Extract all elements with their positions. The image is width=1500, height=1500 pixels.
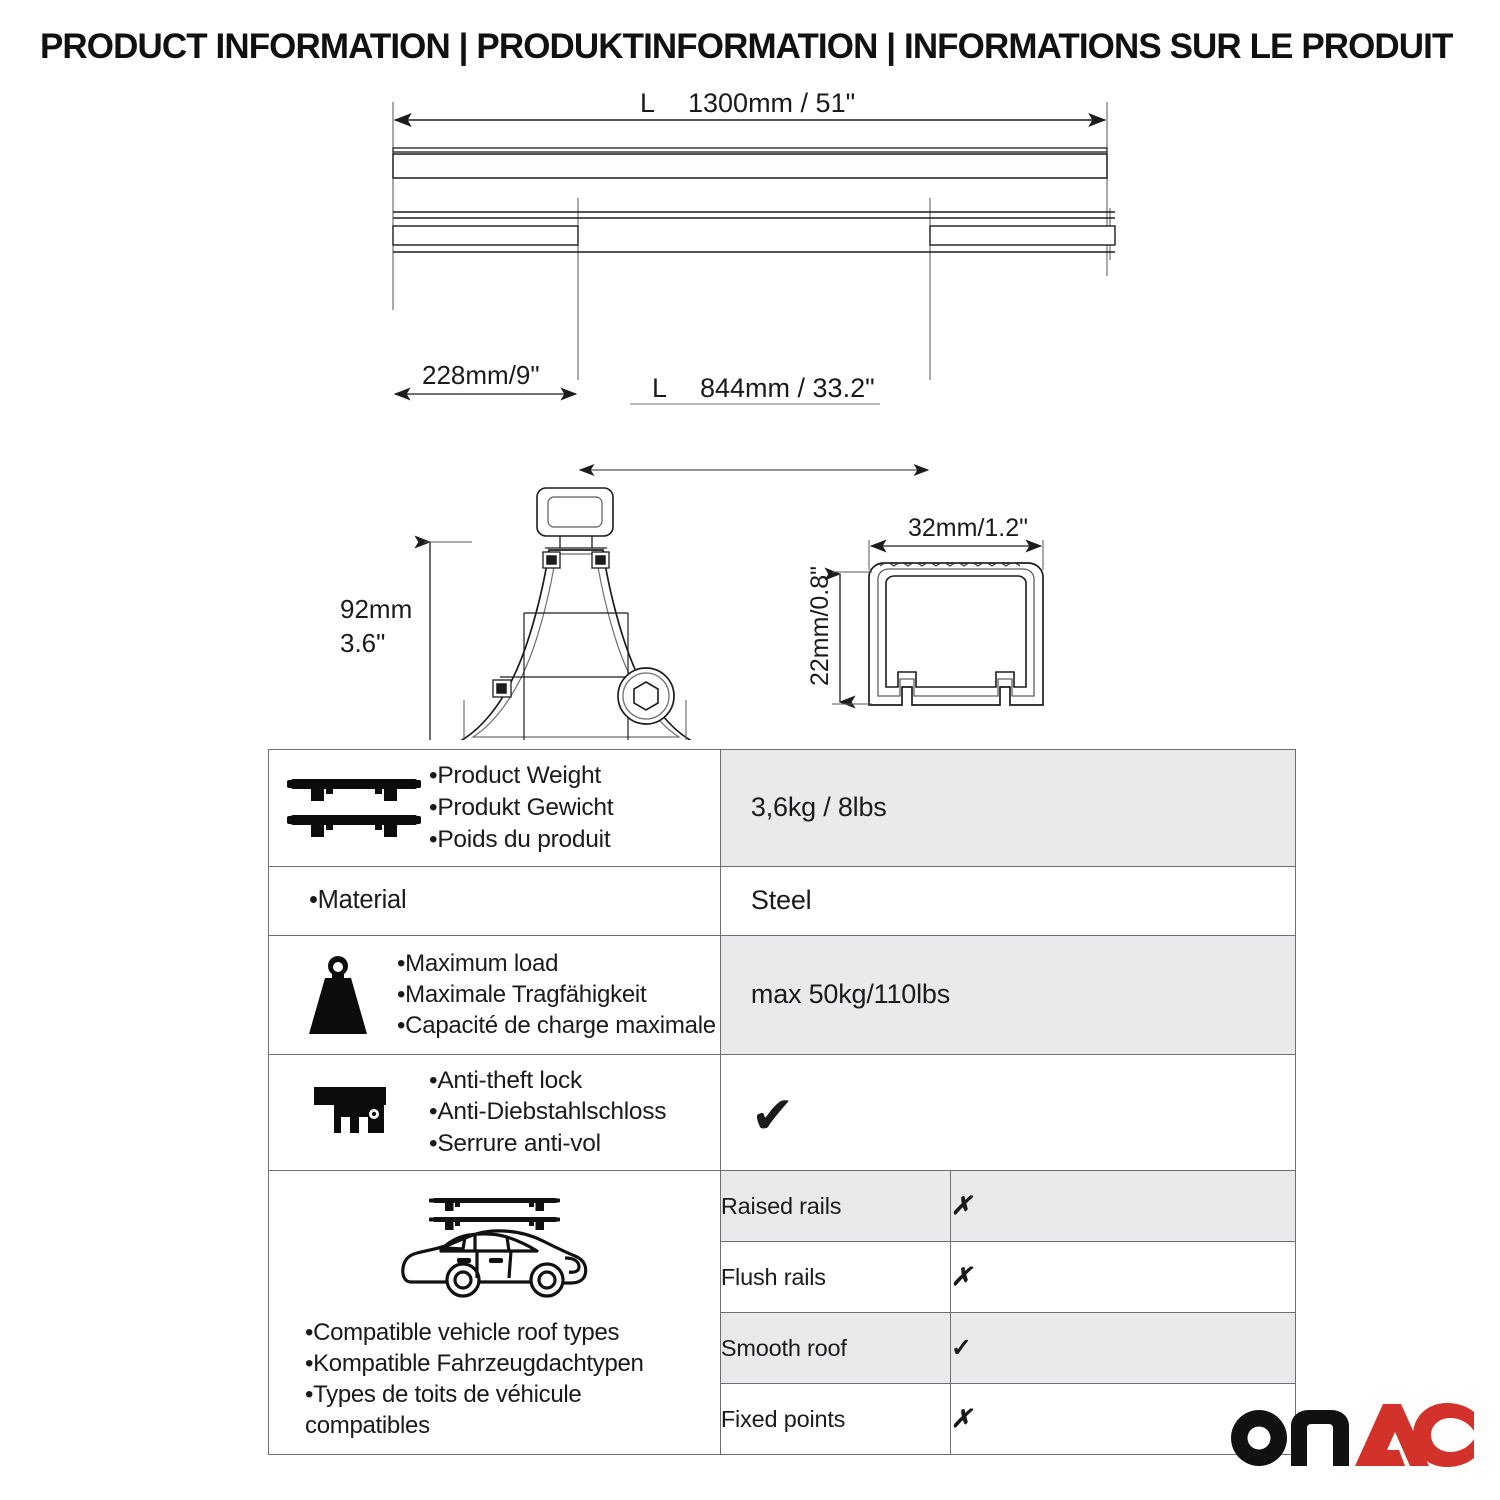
roof-option-mark-flush-rails: ✗ [950, 1242, 1295, 1313]
label-line: •Poids du produit [429, 824, 716, 856]
specifications-table: •Product Weight •Produkt Gewicht •Poids … [268, 749, 1296, 1455]
label-cell-maximum-load: •Maximum load •Maximale Tragfähigkeit •C… [269, 935, 721, 1054]
label-text-maximum-load: •Maximum load •Maximale Tragfähigkeit •C… [397, 948, 716, 1042]
profile-width-dim-value: 32mm/1.2" [908, 514, 1028, 542]
page-title: PRODUCT INFORMATION | PRODUKTINFORMATION… [40, 26, 1449, 67]
logo-letter-o [1231, 1410, 1287, 1466]
product-information-page: PRODUCT INFORMATION | PRODUKTINFORMATION… [0, 0, 1500, 1500]
label-line: •Kompatible Fahrzeugdachtypen [305, 1348, 685, 1379]
label-cell-product-weight: •Product Weight •Produkt Gewicht •Poids … [269, 750, 721, 867]
label-cell-anti-theft-lock: •Anti-theft lock •Anti-Diebstahlschloss … [269, 1054, 721, 1171]
span-dim-letter: L [652, 373, 667, 403]
value-product-weight: 3,6kg / 8lbs [720, 750, 1295, 867]
table-row-anti-theft-lock: •Anti-theft lock •Anti-Diebstahlschloss … [269, 1054, 1296, 1171]
bar-length-dim-letter: L [640, 88, 655, 118]
label-line: •Maximale Tragfähigkeit [397, 979, 716, 1010]
label-line: •Produkt Gewicht [429, 792, 716, 824]
roof-option-name-raised-rails: Raised rails [720, 1171, 950, 1242]
logo-letter-m [1291, 1410, 1349, 1466]
foot-offset-dim-value: 228mm/9" [422, 360, 540, 390]
lock-icon [279, 1081, 429, 1143]
bar-length-dim-value: 1300mm / 51" [688, 88, 855, 118]
label-line: •Types de toits de véhicule compatibles [305, 1379, 685, 1441]
label-line: •Maximum load [397, 948, 716, 979]
label-line: •Compatible vehicle roof types [305, 1317, 685, 1348]
roof-option-name-smooth-roof: Smooth roof [720, 1313, 950, 1384]
label-cell-material: •Material [269, 866, 721, 935]
table-row-roof-raised-rails: •Compatible vehicle roof types •Kompatib… [269, 1171, 1296, 1242]
label-text-product-weight: •Product Weight •Produkt Gewicht •Poids … [429, 760, 716, 856]
value-material: Steel [720, 866, 1295, 935]
label-line: •Product Weight [429, 760, 716, 792]
label-text-compatible-roof-types: •Compatible vehicle roof types •Kompatib… [305, 1317, 685, 1442]
label-cell-compatible-roof-types: •Compatible vehicle roof types •Kompatib… [269, 1171, 721, 1455]
profile-height-dim-value: 22mm/0.8" [806, 566, 834, 686]
label-text-material: •Material [309, 884, 716, 917]
label-text-anti-theft-lock: •Anti-theft lock •Anti-Diebstahlschloss … [429, 1065, 716, 1161]
roof-option-mark-raised-rails: ✗ [950, 1171, 1295, 1242]
label-line: •Anti-Diebstahlschloss [429, 1096, 716, 1128]
label-line: •Material [309, 884, 716, 917]
dimension-drawings-svg: L 1300mm / 51" 228mm/9" L 844mm / 33.2" … [0, 80, 1500, 740]
label-line: •Anti-theft lock [429, 1065, 716, 1097]
logo-letter-c [1413, 1403, 1474, 1467]
car-with-rack-icon [389, 1188, 599, 1311]
technical-drawing-area: L 1300mm / 51" 228mm/9" L 844mm / 33.2" … [0, 80, 1500, 740]
roof-option-name-flush-rails: Flush rails [720, 1242, 950, 1313]
roof-option-name-fixed-points: Fixed points [720, 1384, 950, 1455]
table-row-material: •Material Steel [269, 866, 1296, 935]
weight-icon [279, 952, 397, 1038]
value-anti-theft-lock: ✔ [720, 1054, 1295, 1171]
roof-option-mark-smooth-roof: ✓ [950, 1313, 1295, 1384]
span-dim-value: 844mm / 33.2" [700, 373, 875, 403]
value-maximum-load: max 50kg/110lbs [720, 935, 1295, 1054]
label-line: •Serrure anti-vol [429, 1128, 716, 1160]
table-row-product-weight: •Product Weight •Produkt Gewicht •Poids … [269, 750, 1296, 867]
foot-height-dim-line1: 92mm [340, 594, 412, 624]
foot-height-dim-line2: 3.6" [340, 628, 385, 658]
table-row-maximum-load: •Maximum load •Maximale Tragfähigkeit •C… [269, 935, 1296, 1054]
check-icon: ✔ [751, 1090, 794, 1142]
label-line: •Capacité de charge maximale [397, 1010, 716, 1041]
omac-logo [1229, 1400, 1474, 1470]
crossbars-icon [279, 771, 429, 845]
